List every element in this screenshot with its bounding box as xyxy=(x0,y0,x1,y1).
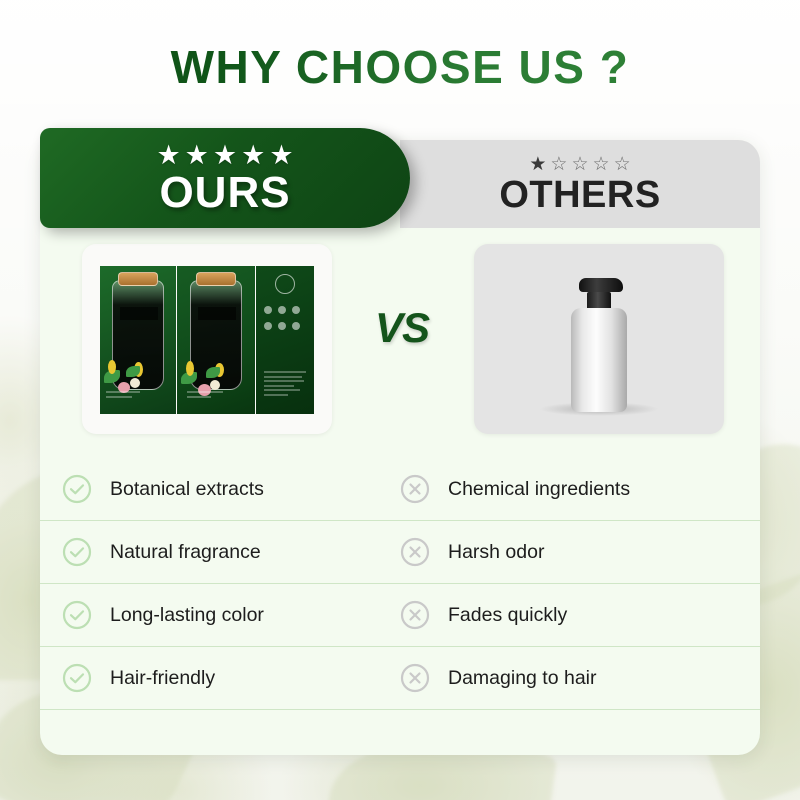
x-circle-icon xyxy=(400,663,430,693)
check-circle-icon xyxy=(62,537,92,567)
star-outline-icon: ☆ xyxy=(593,155,610,174)
ours-rating-stars: ★ ★ ★ ★ ★ xyxy=(156,142,293,169)
comparison-card: ★ ☆ ☆ ☆ ☆ OTHERS ★ ★ ★ ★ ★ OURS xyxy=(40,140,760,755)
check-circle-icon xyxy=(62,474,92,504)
feature-label-ours: Natural fragrance xyxy=(110,541,261,564)
ours-product-panel xyxy=(82,244,332,434)
tab-ours[interactable]: ★ ★ ★ ★ ★ OURS xyxy=(40,128,410,228)
star-filled-icon: ★ xyxy=(185,142,209,169)
star-filled-icon: ★ xyxy=(156,142,180,169)
comparison-tabs: ★ ☆ ☆ ☆ ☆ OTHERS ★ ★ ★ ★ ★ OURS xyxy=(40,140,760,228)
pump-head-icon xyxy=(579,278,623,292)
star-outline-icon: ☆ xyxy=(614,155,631,174)
table-row: Long-lasting color Fades quickly xyxy=(40,584,760,647)
x-circle-icon xyxy=(400,474,430,504)
x-circle-icon xyxy=(400,600,430,630)
feature-cell-ours: Natural fragrance xyxy=(62,537,400,567)
product-showcase: VS xyxy=(40,228,760,458)
star-filled-icon: ★ xyxy=(529,155,546,174)
feature-label-ours: Long-lasting color xyxy=(110,604,264,627)
table-row: Hair-friendly Damaging to hair xyxy=(40,647,760,710)
check-circle-icon xyxy=(62,600,92,630)
ours-product-image xyxy=(100,266,314,414)
x-circle-icon xyxy=(400,537,430,567)
star-filled-icon: ★ xyxy=(241,142,265,169)
feature-label-others: Fades quickly xyxy=(448,604,567,627)
feature-cell-others: Fades quickly xyxy=(400,600,738,630)
others-product-panel xyxy=(474,244,724,434)
tab-ours-label: OURS xyxy=(159,171,290,215)
star-outline-icon: ☆ xyxy=(550,155,567,174)
product-box-face xyxy=(100,266,176,414)
feature-cell-others: Harsh odor xyxy=(400,537,738,567)
feature-cell-others: Damaging to hair xyxy=(400,663,738,693)
feature-cell-ours: Long-lasting color xyxy=(62,600,400,630)
table-row: Natural fragrance Harsh odor xyxy=(40,521,760,584)
package-text-lines xyxy=(264,371,308,398)
tab-others-label: OTHERS xyxy=(499,176,660,214)
feature-cell-others: Chemical ingredients xyxy=(400,474,738,504)
tab-others[interactable]: ★ ☆ ☆ ☆ ☆ OTHERS xyxy=(400,140,760,228)
bottle-body xyxy=(571,308,627,412)
product-box-face xyxy=(177,266,255,414)
jar-label xyxy=(120,307,158,320)
star-filled-icon: ★ xyxy=(269,142,293,169)
feature-cell-ours: Hair-friendly xyxy=(62,663,400,693)
package-text-lines xyxy=(187,391,233,400)
star-outline-icon: ☆ xyxy=(571,155,588,174)
infographic-page: WHY CHOOSE US ? ★ ☆ ☆ ☆ ☆ OTHERS ★ ★ ★ xyxy=(0,0,800,800)
check-circle-icon xyxy=(62,663,92,693)
jar-lid xyxy=(118,272,158,286)
others-rating-stars: ★ ☆ ☆ ☆ ☆ xyxy=(529,155,630,174)
table-row: Botanical extracts Chemical ingredients xyxy=(40,458,760,521)
versus-badge: VS xyxy=(375,304,425,352)
others-product-image xyxy=(567,272,631,412)
feature-list: Botanical extracts Chemical ingredients … xyxy=(40,458,760,710)
feature-label-others: Harsh odor xyxy=(448,541,544,564)
brand-seal-icon xyxy=(275,274,295,294)
feature-label-others: Chemical ingredients xyxy=(448,478,630,501)
feature-label-ours: Botanical extracts xyxy=(110,478,264,501)
star-filled-icon: ★ xyxy=(213,142,237,169)
page-title: WHY CHOOSE US ? xyxy=(0,40,800,94)
feature-label-others: Damaging to hair xyxy=(448,667,597,690)
jar-lid xyxy=(196,272,236,286)
product-box-side-panel xyxy=(256,266,314,414)
feature-label-ours: Hair-friendly xyxy=(110,667,215,690)
package-text-lines xyxy=(106,391,152,400)
feature-cell-ours: Botanical extracts xyxy=(62,474,400,504)
jar-label xyxy=(198,307,236,320)
